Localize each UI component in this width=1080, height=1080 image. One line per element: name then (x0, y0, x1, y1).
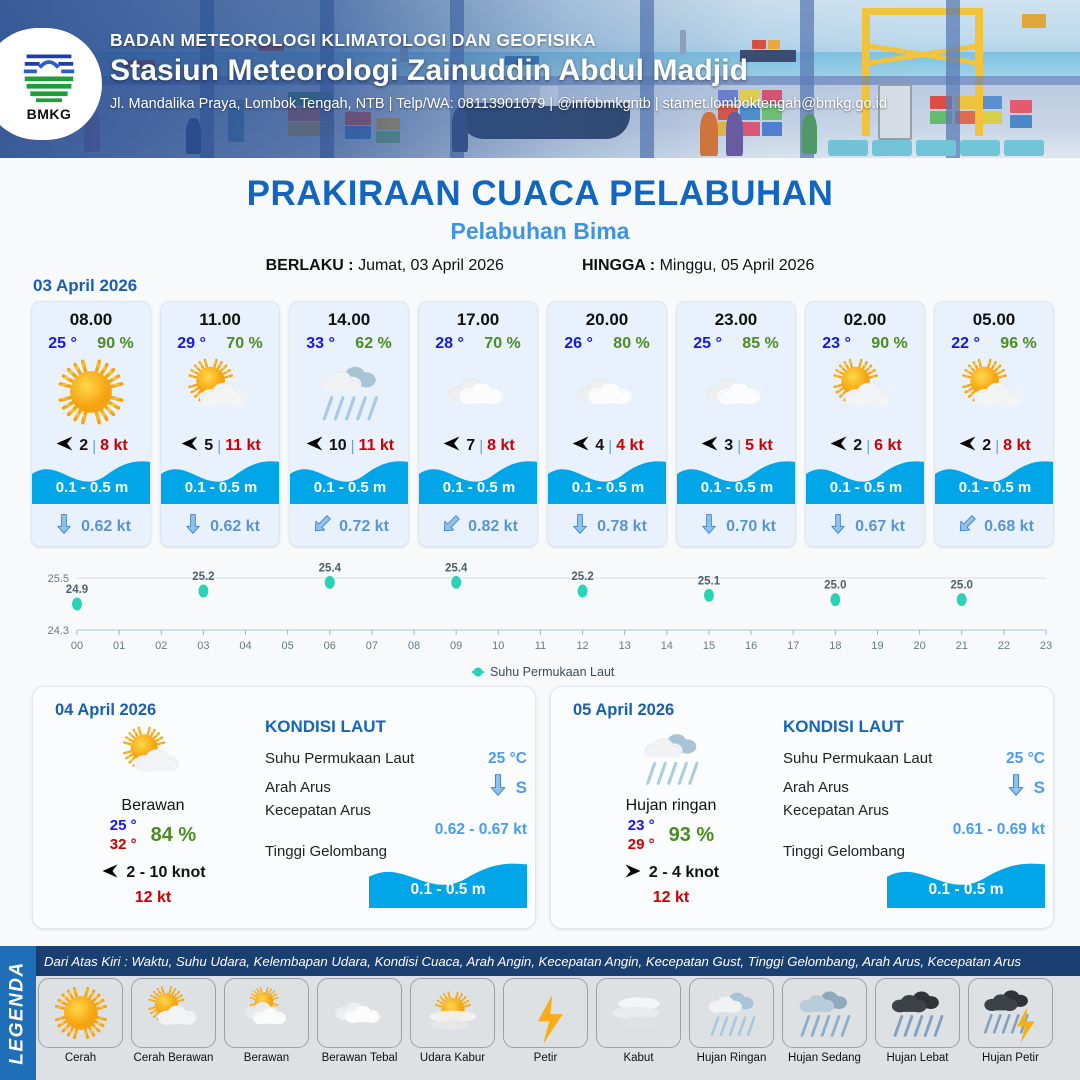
legend-item-label: Hujan Ringan (689, 1052, 774, 1065)
svg-text:13: 13 (619, 640, 631, 652)
card-humidity: 96 % (1000, 335, 1036, 353)
legend-item-label: Cerah Berawan (131, 1052, 216, 1065)
panel-wind-speed: 2 - 4 knot (649, 864, 719, 882)
current-direction-label: Arah Arus (265, 779, 331, 796)
legend-side-label: LEGENDA (7, 961, 29, 1064)
card-wind-speed: 2 (79, 437, 88, 455)
current-direction-value: S (1034, 778, 1045, 798)
hourly-card: 08.00 25 ° 90 % 2 | 8 kt 0.1 - 0.5 m 0.6… (31, 301, 151, 547)
panel-date: 04 April 2026 (55, 701, 156, 720)
legend-item: Cerah (38, 978, 123, 1065)
hourly-card: 02.00 23 ° 90 % 2 | 6 kt 0.1 - 0.5 m 0.6… (805, 301, 925, 547)
hourly-card: 11.00 29 ° 70 % 5 | 11 kt 0.1 - 0.5 m 0.… (160, 301, 280, 547)
wind-direction-arrow-icon (623, 861, 643, 886)
weather-icon-hujan-ringan (290, 355, 408, 429)
svg-text:12: 12 (576, 640, 588, 652)
legend-item-label: Kabut (596, 1052, 681, 1065)
header-text-block: BADAN METEOROLOGI KLIMATOLOGI DAN GEOFIS… (110, 30, 1010, 112)
wave-height-block: Tinggi Gelombang 0.1 - 0.5 m (783, 843, 1045, 908)
svg-text:14: 14 (661, 640, 673, 652)
panel-sea-conditions: KONDISI LAUT Suhu Permukaan Laut 25 °C A… (783, 717, 1045, 908)
card-wave-height: 0.1 - 0.5 m (32, 479, 151, 496)
card-gust: 4 kt (616, 437, 644, 455)
card-time: 02.00 (806, 310, 924, 330)
legend-items-row: Cerah Cerah Berawan Berawan Beraw (38, 978, 1078, 1065)
current-direction-arrow-icon (1004, 773, 1028, 802)
legend-item-label: Hujan Lebat (875, 1052, 960, 1065)
svg-text:25.4: 25.4 (445, 562, 468, 574)
current-direction-row: Arah Arus S (783, 773, 1045, 802)
current-direction-label: Arah Arus (783, 779, 849, 796)
card-temperature: 26 ° (564, 335, 593, 353)
panel-temp-max: 29 ° (628, 836, 655, 855)
card-time: 08.00 (32, 310, 150, 330)
legend-item-label: Berawan Tebal (317, 1052, 402, 1065)
panel-condition: Berawan (47, 797, 259, 815)
legend-item: Hujan Sedang (782, 978, 867, 1065)
current-speed-block: Kecepatan Arus 0.61 - 0.69 kt (783, 802, 1045, 839)
hourly-card: 23.00 25 ° 85 % 3 | 5 kt 0.1 - 0.5 m (676, 301, 796, 547)
svg-text:10: 10 (492, 640, 504, 652)
panel-temp-max: 32 ° (110, 836, 137, 855)
card-wave-graphic: 0.1 - 0.5 m (32, 454, 151, 504)
card-humidity: 70 % (484, 335, 520, 353)
card-humidity: 90 % (871, 335, 907, 353)
panel-temp-min: 25 ° (110, 817, 137, 836)
current-direction-value: S (516, 778, 527, 798)
legend-item: Hujan Ringan (689, 978, 774, 1065)
svg-text:07: 07 (366, 640, 378, 652)
card-temp-hum-row: 26 ° 80 % (548, 335, 666, 353)
weather-icon-cerah (32, 355, 150, 429)
svg-text:02: 02 (155, 640, 167, 652)
card-current-row: 0.62 kt (32, 513, 151, 540)
legend-item: Berawan (224, 978, 309, 1065)
card-wave-graphic: 0.1 - 0.5 m (935, 454, 1054, 504)
card-temp-hum-row: 28 ° 70 % (419, 335, 537, 353)
card-wind-speed: 4 (595, 437, 604, 455)
daily-forecast-panel: 04 April 2026 Berawan 25 ° 32 ° 84 % 2 -… (32, 686, 536, 929)
berlaku-value: Jumat, 03 April 2026 (358, 257, 504, 274)
wind-direction-arrow-icon (100, 861, 120, 886)
svg-text:06: 06 (324, 640, 336, 652)
svg-text:15: 15 (703, 640, 715, 652)
contact-line: Jl. Mandalika Praya, Lombok Tengah, NTB … (110, 96, 1010, 112)
card-separator: | (608, 438, 612, 455)
svg-text:25.0: 25.0 (824, 580, 846, 592)
card-humidity: 90 % (97, 335, 133, 353)
card-time: 05.00 (935, 310, 1053, 330)
card-wave-graphic: 0.1 - 0.5 m (419, 454, 538, 504)
weather-icon-cerah-berawan (161, 355, 279, 429)
card-wave-graphic: 0.1 - 0.5 m (548, 454, 667, 504)
svg-text:25.2: 25.2 (192, 571, 214, 583)
svg-text:05: 05 (282, 640, 294, 652)
svg-text:24.9: 24.9 (66, 584, 88, 596)
card-gust: 8 kt (1003, 437, 1031, 455)
panel-humidity: 93 % (669, 824, 715, 847)
hingga-label: HINGGA : (582, 257, 655, 274)
weather-icon-cerah-berawan (935, 355, 1053, 429)
hingga-value: Minggu, 05 April 2026 (660, 257, 815, 274)
legend-icon-hujan-ringan (689, 978, 774, 1048)
current-direction-arrow-icon (827, 513, 849, 540)
validity-row: BERLAKU : Jumat, 03 April 2026 HINGGA : … (0, 257, 1080, 275)
panel-left-column: Berawan 25 ° 32 ° 84 % 2 - 10 knot 12 kt (47, 723, 259, 907)
panel-left-column: Hujan ringan 23 ° 29 ° 93 % 2 - 4 knot 1… (565, 723, 777, 907)
current-direction-row: Arah Arus S (265, 773, 527, 802)
card-current-row: 0.72 kt (290, 513, 409, 540)
panel-gust: 12 kt (565, 889, 777, 907)
card-wave-graphic: 0.1 - 0.5 m (806, 454, 925, 504)
card-wave-height: 0.1 - 0.5 m (935, 479, 1054, 496)
wave-height-value: 0.1 - 0.5 m (887, 881, 1045, 899)
hourly-card: 20.00 26 ° 80 % 4 | 4 kt 0.1 - 0.5 m (547, 301, 667, 547)
card-wind-speed: 2 (982, 437, 991, 455)
card-wave-graphic: 0.1 - 0.5 m (677, 454, 796, 504)
current-speed-label: Kecepatan Arus (783, 802, 1045, 819)
sst-row: Suhu Permukaan Laut 25 °C (265, 744, 527, 773)
svg-text:16: 16 (745, 640, 757, 652)
card-temperature: 29 ° (177, 335, 206, 353)
svg-text:23: 23 (1040, 640, 1052, 652)
legend-item-label: Udara Kabur (410, 1052, 495, 1065)
card-time: 17.00 (419, 310, 537, 330)
card-temperature: 22 ° (951, 335, 980, 353)
card-time: 20.00 (548, 310, 666, 330)
panel-wind-row: 2 - 10 knot (47, 861, 259, 886)
card-gust: 11 kt (359, 437, 395, 455)
legend-item: Berawan Tebal (317, 978, 402, 1065)
svg-text:25.2: 25.2 (571, 571, 593, 583)
sea-conditions-title: KONDISI LAUT (783, 717, 1045, 737)
panel-date: 05 April 2026 (573, 701, 674, 720)
wave-graphic: 0.1 - 0.5 m (369, 856, 527, 908)
legend-icon-hujan-lebat (875, 978, 960, 1048)
berlaku-label: BERLAKU : (266, 257, 354, 274)
current-direction-arrow-icon (486, 773, 510, 802)
card-temperature: 33 ° (306, 335, 335, 353)
card-temp-hum-row: 25 ° 90 % (32, 335, 150, 353)
card-current-row: 0.78 kt (548, 513, 667, 540)
svg-text:22: 22 (998, 640, 1010, 652)
card-current-speed: 0.82 kt (468, 518, 518, 536)
current-direction-value-group: S (1004, 773, 1045, 802)
svg-text:11: 11 (535, 640, 546, 652)
sst-value: 25 °C (488, 750, 527, 768)
card-wave-height: 0.1 - 0.5 m (548, 479, 667, 496)
legend-icon-berawan-sun (224, 978, 309, 1048)
card-temperature: 23 ° (822, 335, 851, 353)
legend-note: Dari Atas Kiri : Waktu, Suhu Udara, Kele… (36, 946, 1080, 976)
card-temperature: 28 ° (435, 335, 464, 353)
card-gust: 8 kt (487, 437, 515, 455)
card-wind-speed: 10 (329, 437, 347, 455)
hourly-card: 05.00 22 ° 96 % 2 | 8 kt 0.1 - 0.5 m 0.6… (934, 301, 1054, 547)
card-gust: 6 kt (874, 437, 902, 455)
panel-temperature-row: 23 ° 29 ° 93 % (565, 817, 777, 855)
card-current-speed: 0.62 kt (210, 518, 260, 536)
card-current-speed: 0.72 kt (339, 518, 389, 536)
station-name: Stasiun Meteorologi Zainuddin Abdul Madj… (110, 54, 1010, 88)
weather-icon-berawan (419, 355, 537, 429)
current-direction-arrow-icon (956, 513, 978, 540)
current-direction-arrow-icon (311, 513, 333, 540)
svg-text:08: 08 (408, 640, 420, 652)
legend-icon-berawan (317, 978, 402, 1048)
weather-icon-hujan-ringan (565, 723, 777, 793)
legend-icon-cerah-berawan (131, 978, 216, 1048)
header-banner: BMKG BADAN METEOROLOGI KLIMATOLOGI DAN G… (0, 0, 1080, 158)
card-gust: 5 kt (745, 437, 773, 455)
card-separator: | (479, 438, 483, 455)
svg-text:03: 03 (197, 640, 209, 652)
svg-text:25.4: 25.4 (319, 562, 342, 574)
panel-condition: Hujan ringan (565, 797, 777, 815)
sst-row: Suhu Permukaan Laut 25 °C (783, 744, 1045, 773)
panel-sea-conditions: KONDISI LAUT Suhu Permukaan Laut 25 °C A… (265, 717, 527, 908)
legend-item: Kabut (596, 978, 681, 1065)
current-speed-block: Kecepatan Arus 0.62 - 0.67 kt (265, 802, 527, 839)
weather-icon-berawan (548, 355, 666, 429)
legend-item: Udara Kabur (410, 978, 495, 1065)
legend-item: Hujan Petir (968, 978, 1053, 1065)
current-direction-value-group: S (486, 773, 527, 802)
svg-text:00: 00 (71, 640, 83, 652)
card-temp-hum-row: 22 ° 96 % (935, 335, 1053, 353)
panel-temperature-row: 25 ° 32 ° 84 % (47, 817, 259, 855)
bmkg-logo-text: BMKG (27, 106, 72, 122)
hourly-card: 14.00 33 ° 62 % 10 | 11 kt 0.1 - 0.5 m (289, 301, 409, 547)
card-separator: | (217, 438, 221, 455)
svg-text:25.1: 25.1 (698, 575, 721, 587)
infographic-page: BMKG BADAN METEOROLOGI KLIMATOLOGI DAN G… (0, 0, 1080, 1080)
svg-text:25.0: 25.0 (951, 580, 973, 592)
wave-height-block: Tinggi Gelombang 0.1 - 0.5 m (265, 843, 527, 908)
weather-icon-berawan (677, 355, 795, 429)
sea-conditions-title: KONDISI LAUT (265, 717, 527, 737)
card-wind-speed: 7 (466, 437, 475, 455)
card-wave-graphic: 0.1 - 0.5 m (161, 454, 280, 504)
svg-text:18: 18 (829, 640, 841, 652)
legend-section: LEGENDA Dari Atas Kiri : Waktu, Suhu Uda… (0, 946, 1080, 1080)
card-humidity: 80 % (613, 335, 649, 353)
card-time: 14.00 (290, 310, 408, 330)
legend-icon-udara-kabur (410, 978, 495, 1048)
card-wave-height: 0.1 - 0.5 m (677, 479, 796, 496)
panel-wind-row: 2 - 4 knot (565, 861, 777, 886)
card-separator: | (737, 438, 741, 455)
legend-icon-cerah (38, 978, 123, 1048)
legend-item-label: Hujan Petir (968, 1052, 1053, 1065)
svg-text:Suhu Permukaan Laut: Suhu Permukaan Laut (490, 665, 615, 679)
card-current-speed: 0.62 kt (81, 518, 131, 536)
card-wind-speed: 2 (853, 437, 862, 455)
card-wave-height: 0.1 - 0.5 m (419, 479, 538, 496)
card-gust: 11 kt (225, 437, 261, 455)
daily-forecast-panel: 05 April 2026 Hujan ringan 23 ° 29 ° 93 … (550, 686, 1054, 929)
card-temp-hum-row: 25 ° 85 % (677, 335, 795, 353)
weather-icon-cerah-berawan (47, 723, 259, 793)
legend-side-bar: LEGENDA (0, 946, 36, 1080)
current-direction-arrow-icon (569, 513, 591, 540)
legend-item: Cerah Berawan (131, 978, 216, 1065)
card-current-row: 0.68 kt (935, 513, 1054, 540)
card-current-speed: 0.67 kt (855, 518, 905, 536)
card-humidity: 62 % (355, 335, 391, 353)
page-subtitle: Pelabuhan Bima (0, 218, 1080, 245)
card-temp-hum-row: 23 ° 90 % (806, 335, 924, 353)
panel-temp-column: 23 ° 29 ° (628, 817, 655, 855)
current-direction-arrow-icon (698, 513, 720, 540)
svg-text:09: 09 (450, 640, 462, 652)
card-humidity: 85 % (742, 335, 778, 353)
svg-text:24.3: 24.3 (48, 625, 69, 637)
legend-item-label: Petir (503, 1052, 588, 1065)
legend-item: Petir (503, 978, 588, 1065)
agency-name: BADAN METEOROLOGI KLIMATOLOGI DAN GEOFIS… (110, 30, 1010, 51)
wave-graphic: 0.1 - 0.5 m (887, 856, 1045, 908)
current-speed-label: Kecepatan Arus (265, 802, 527, 819)
svg-text:21: 21 (956, 640, 968, 652)
card-temperature: 25 ° (693, 335, 722, 353)
current-direction-arrow-icon (53, 513, 75, 540)
card-wind-speed: 3 (724, 437, 733, 455)
panel-gust: 12 kt (47, 889, 259, 907)
card-gust: 8 kt (100, 437, 128, 455)
panel-wind-speed: 2 - 10 knot (126, 864, 205, 882)
card-wave-height: 0.1 - 0.5 m (161, 479, 280, 496)
berlaku-group: BERLAKU : Jumat, 03 April 2026 (266, 257, 504, 275)
legend-item-label: Hujan Sedang (782, 1052, 867, 1065)
legend-item-label: Berawan (224, 1052, 309, 1065)
svg-text:04: 04 (239, 640, 251, 652)
card-current-speed: 0.68 kt (984, 518, 1034, 536)
card-wave-height: 0.1 - 0.5 m (806, 479, 925, 496)
sst-label: Suhu Permukaan Laut (265, 750, 414, 767)
panel-temp-min: 23 ° (628, 817, 655, 836)
card-wind-speed: 5 (204, 437, 213, 455)
card-current-speed: 0.70 kt (726, 518, 776, 536)
legend-icon-petir (503, 978, 588, 1048)
current-direction-arrow-icon (440, 513, 462, 540)
svg-text:01: 01 (113, 640, 125, 652)
card-separator: | (92, 438, 96, 455)
card-current-row: 0.62 kt (161, 513, 280, 540)
card-separator: | (866, 438, 870, 455)
weather-icon-cerah-berawan (806, 355, 924, 429)
hourly-card: 17.00 28 ° 70 % 7 | 8 kt 0.1 - 0.5 m (418, 301, 538, 547)
page-title: PRAKIRAAN CUACA PELABUHAN (0, 174, 1080, 214)
card-time: 11.00 (161, 310, 279, 330)
current-direction-arrow-icon (182, 513, 204, 540)
hourly-date-label: 03 April 2026 (33, 276, 137, 296)
panel-humidity: 84 % (151, 824, 197, 847)
card-temp-hum-row: 29 ° 70 % (161, 335, 279, 353)
bmkg-logo-icon (21, 47, 77, 105)
sst-label: Suhu Permukaan Laut (783, 750, 932, 767)
hourly-forecast-row: 08.00 25 ° 90 % 2 | 8 kt 0.1 - 0.5 m 0.6… (31, 301, 1054, 547)
legend-icon-kabut (596, 978, 681, 1048)
card-time: 23.00 (677, 310, 795, 330)
legend-icon-hujan-sedang (782, 978, 867, 1048)
card-current-row: 0.82 kt (419, 513, 538, 540)
card-temp-hum-row: 33 ° 62 % (290, 335, 408, 353)
card-wave-height: 0.1 - 0.5 m (290, 479, 409, 496)
sst-chart-svg: 25.524.300010203040506070809101112131415… (22, 556, 1058, 684)
legend-item-label: Cerah (38, 1052, 123, 1065)
card-current-row: 0.67 kt (806, 513, 925, 540)
svg-text:20: 20 (913, 640, 925, 652)
legend-item: Hujan Lebat (875, 978, 960, 1065)
card-wave-graphic: 0.1 - 0.5 m (290, 454, 409, 504)
hingga-group: HINGGA : Minggu, 05 April 2026 (582, 257, 814, 275)
svg-text:17: 17 (787, 640, 799, 652)
card-current-speed: 0.78 kt (597, 518, 647, 536)
sst-chart: 25.524.300010203040506070809101112131415… (22, 556, 1058, 684)
card-separator: | (351, 438, 355, 455)
title-section: PRAKIRAAN CUACA PELABUHAN Pelabuhan Bima… (0, 174, 1080, 275)
card-humidity: 70 % (226, 335, 262, 353)
panel-temp-column: 25 ° 32 ° (110, 817, 137, 855)
legend-icon-hujan-petir (968, 978, 1053, 1048)
current-speed-value: 0.62 - 0.67 kt (265, 821, 527, 839)
svg-text:19: 19 (871, 640, 883, 652)
wave-height-value: 0.1 - 0.5 m (369, 881, 527, 899)
daily-forecast-panels: 04 April 2026 Berawan 25 ° 32 ° 84 % 2 -… (32, 686, 1054, 929)
card-current-row: 0.70 kt (677, 513, 796, 540)
current-speed-value: 0.61 - 0.69 kt (783, 821, 1045, 839)
card-separator: | (995, 438, 999, 455)
sst-value: 25 °C (1006, 750, 1045, 768)
card-temperature: 25 ° (48, 335, 77, 353)
